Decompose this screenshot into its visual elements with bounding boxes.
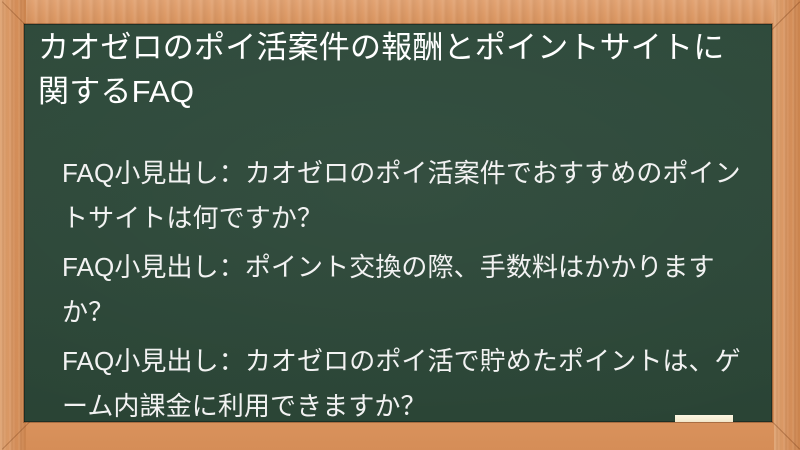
frame-rail-right bbox=[774, 0, 800, 450]
chalkboard-graphic: カオゼロのポイ活案件の報酬とポイントサイトに関するFAQ FAQ小見出し：カオゼ… bbox=[0, 0, 800, 450]
frame-rail-top bbox=[0, 0, 800, 24]
frame-rail-bottom bbox=[0, 422, 800, 450]
faq-list: FAQ小見出し：カオゼロのポイ活案件でおすすめのポイントサイトは何ですか？ FA… bbox=[62, 151, 762, 422]
chalkboard-surface: カオゼロのポイ活案件の報酬とポイントサイトに関するFAQ FAQ小見出し：カオゼ… bbox=[24, 24, 772, 422]
board-title: カオゼロのポイ活案件の報酬とポイントサイトに関するFAQ bbox=[38, 26, 750, 114]
chalk-stick bbox=[675, 415, 733, 422]
faq-item: FAQ小見出し：ポイント交換の際、手数料はかかりますか？ bbox=[62, 245, 762, 335]
frame-rail-left bbox=[0, 0, 26, 450]
faq-item: FAQ小見出し：カオゼロのポイ活案件でおすすめのポイントサイトは何ですか？ bbox=[62, 151, 762, 241]
faq-item: FAQ小見出し：カオゼロのポイ活で貯めたポイントは、ゲーム内課金に利用できますか… bbox=[62, 339, 762, 422]
